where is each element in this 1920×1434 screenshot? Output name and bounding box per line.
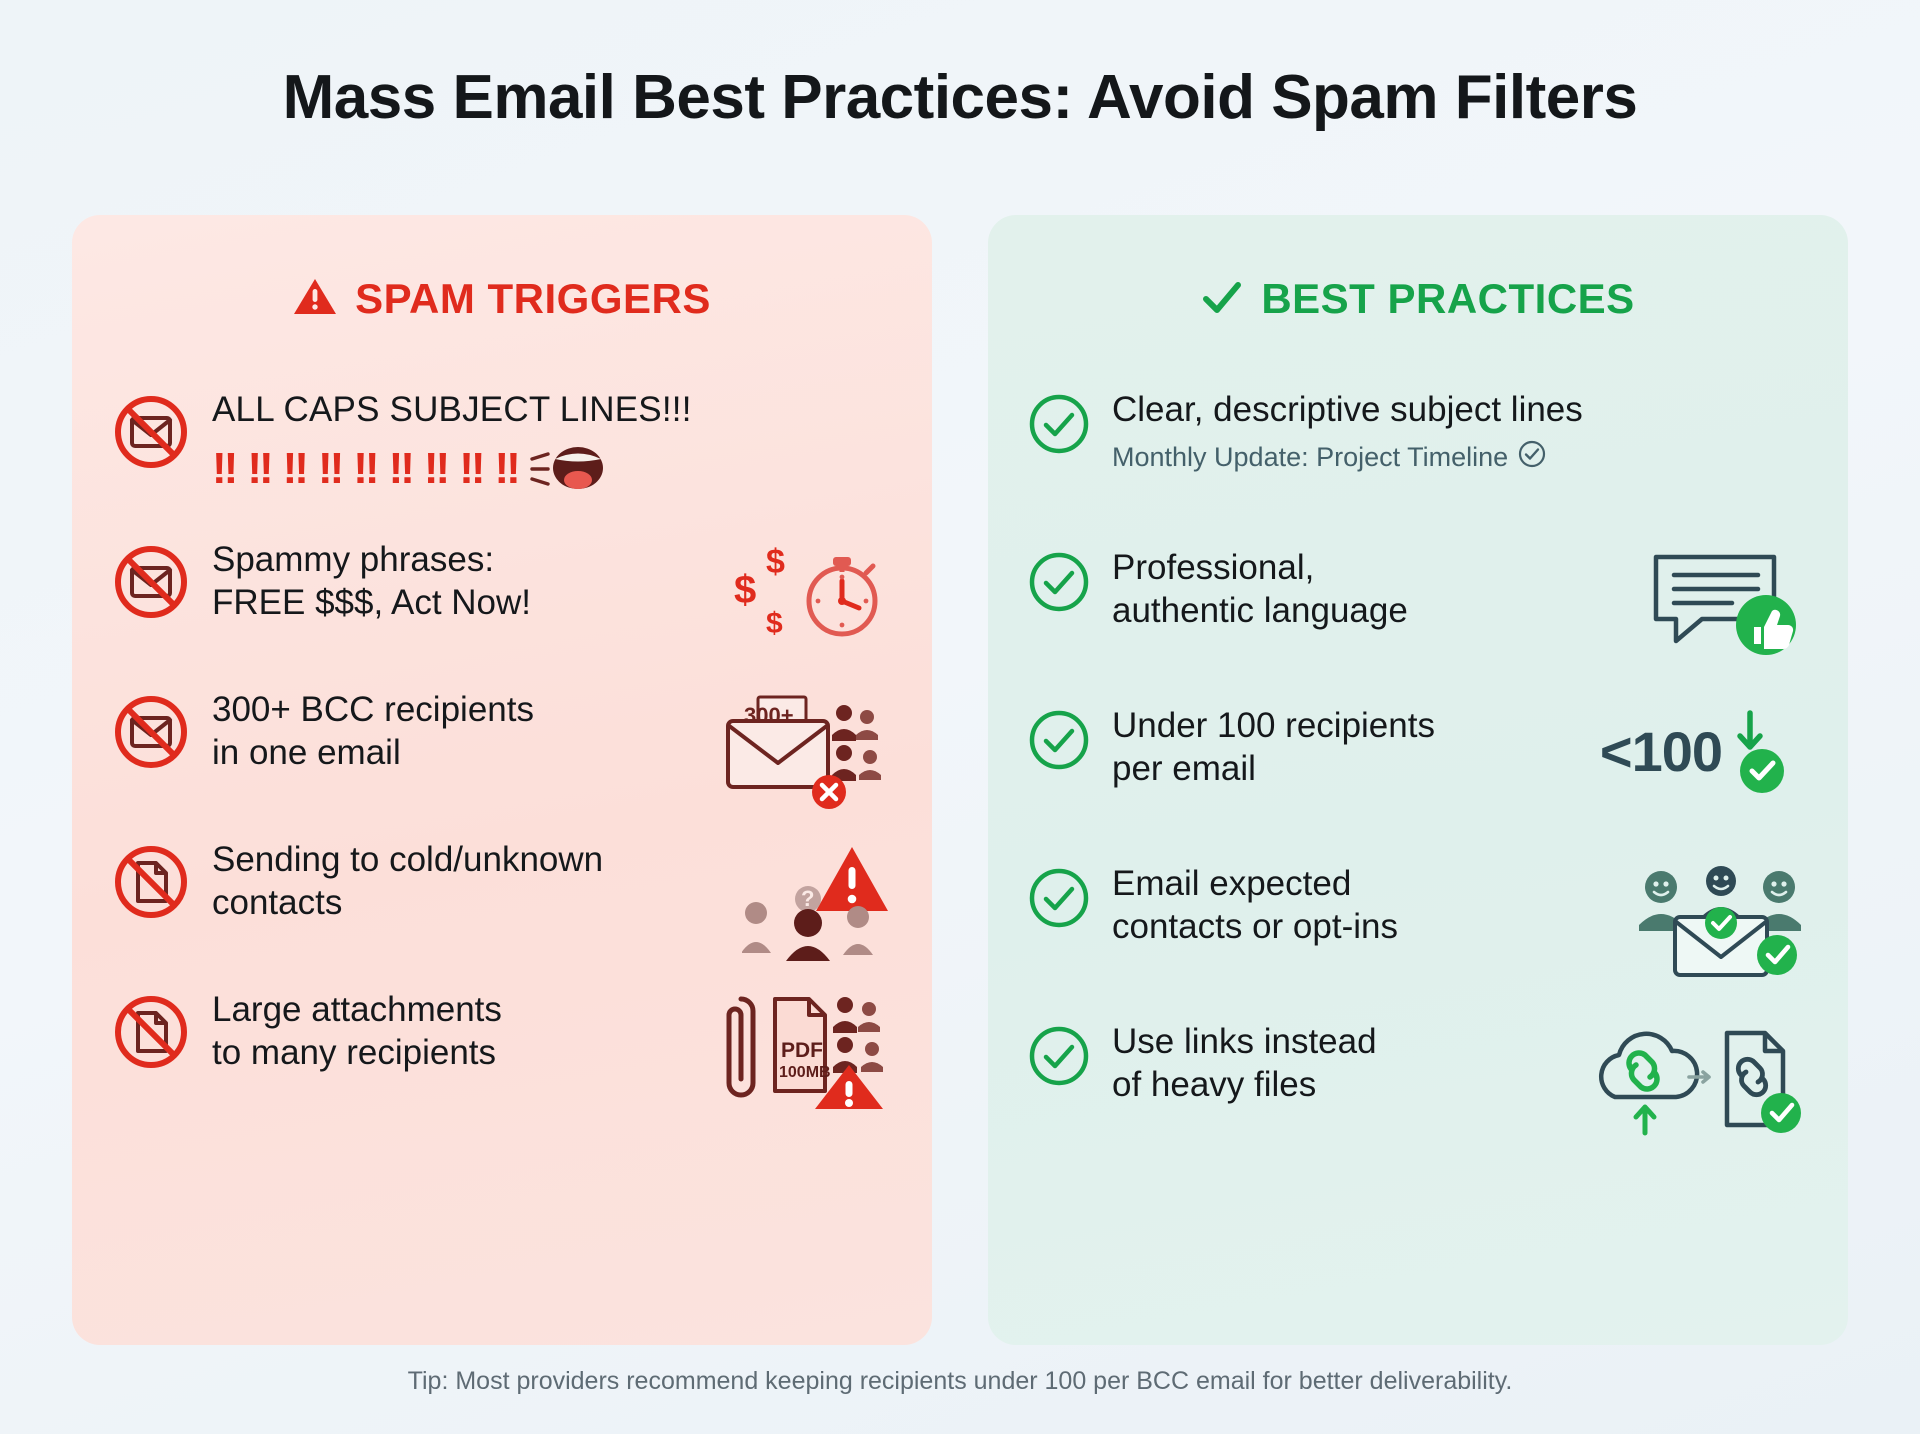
- list-item-line2: in one email: [212, 732, 690, 775]
- list-item-body: Use links instead of heavy files: [1112, 1021, 1561, 1106]
- exclamation-group: !!: [212, 447, 235, 491]
- list-item-body: Spammy phrases: FREE $$$, Act Now!: [212, 539, 700, 624]
- svg-text:?: ?: [801, 886, 814, 911]
- spam-triggers-title: SPAM TRIGGERS: [355, 275, 711, 323]
- list-item-body: 300+ BCC recipients in one email: [212, 689, 690, 774]
- best-practices-header: BEST PRACTICES: [1028, 275, 1808, 323]
- under-100-down-arrow-icon: <100: [1600, 707, 1808, 797]
- list-item-line1: Large attachments: [212, 989, 685, 1032]
- list-item: Email expected contacts or opt-ins: [1028, 863, 1808, 1021]
- unknown-people-warning-icon: ?: [742, 841, 892, 966]
- list-item-line1: Under 100 recipients: [1112, 705, 1568, 748]
- exclamation-group: !!: [424, 447, 447, 491]
- check-circle-icon: [1028, 393, 1090, 460]
- list-item: Sending to cold/unknown contacts: [112, 839, 892, 989]
- list-item-line1: Spammy phrases:: [212, 539, 700, 582]
- list-item-body: Clear, descriptive subject lines Monthly…: [1112, 389, 1808, 475]
- file-size-label: 100MB: [779, 1064, 831, 1081]
- exclamation-group: !!: [459, 447, 482, 491]
- svg-text:$: $: [734, 568, 756, 612]
- list-item-body: Professional, authentic language: [1112, 547, 1616, 632]
- exclamation-group: !!: [495, 447, 518, 491]
- list-item-line1: 300+ BCC recipients: [212, 689, 690, 732]
- best-practices-list: Clear, descriptive subject lines Monthly…: [1028, 389, 1808, 1179]
- svg-text:$: $: [766, 543, 785, 581]
- under-100-label: <100: [1600, 724, 1722, 780]
- check-circle-icon: [1028, 867, 1090, 934]
- list-item-line1: Professional,: [1112, 547, 1616, 590]
- list-item-line1: Email expected: [1112, 863, 1601, 906]
- check-circle-icon: [1028, 709, 1090, 776]
- check-circle-icon: [1028, 551, 1090, 618]
- spam-triggers-header: SPAM TRIGGERS: [112, 275, 892, 323]
- check-icon: [1201, 277, 1243, 322]
- svg-text:$: $: [766, 607, 783, 640]
- list-item: Use links instead of heavy files: [1028, 1021, 1808, 1179]
- list-item-line2: contacts or opt-ins: [1112, 906, 1601, 949]
- no-email-icon: [112, 543, 190, 626]
- paperclip-pdf-warning-icon: PDF 100MB: [717, 991, 892, 1116]
- check-circle-small-icon: [1518, 440, 1546, 475]
- list-item: Large attachments to many recipients PDF…: [112, 989, 892, 1139]
- no-email-icon: [112, 393, 190, 476]
- money-stopwatch-icon: $ $ $: [732, 541, 892, 656]
- list-item: Spammy phrases: FREE $$$, Act Now! $ $ $: [112, 539, 892, 689]
- people-envelope-check-icon: [1633, 865, 1808, 985]
- exclamation-row: !! !! !! !! !! !! !! !! !!: [212, 438, 892, 501]
- exclamation-group: !!: [389, 447, 412, 491]
- chat-thumbsup-icon: [1648, 549, 1808, 669]
- envelope-count-label: 300+: [744, 703, 794, 728]
- list-item-line2: to many recipients: [212, 1032, 685, 1075]
- infographic-page: Mass Email Best Practices: Avoid Spam Fi…: [0, 0, 1920, 1434]
- list-item-line2: of heavy files: [1112, 1064, 1561, 1107]
- cloud-link-file-check-icon: [1593, 1023, 1808, 1143]
- list-item: Clear, descriptive subject lines Monthly…: [1028, 389, 1808, 547]
- no-email-icon: [112, 693, 190, 776]
- subject-line-example: Monthly Update: Project Timeline: [1112, 440, 1808, 475]
- pdf-label: PDF: [781, 1039, 823, 1062]
- best-practices-panel: BEST PRACTICES Clear, descriptive subjec…: [988, 215, 1848, 1345]
- list-item: ALL CAPS SUBJECT LINES!!! !! !! !! !! !!…: [112, 389, 892, 539]
- no-document-icon: [112, 993, 190, 1076]
- list-item-line2: authentic language: [1112, 590, 1616, 633]
- list-item-line1: Sending to cold/unknown: [212, 839, 710, 882]
- exclamation-group: !!: [318, 447, 341, 491]
- spam-triggers-panel: SPAM TRIGGERS ALL CAPS SUBJECT LINE: [72, 215, 932, 1345]
- list-item-body: Email expected contacts or opt-ins: [1112, 863, 1601, 948]
- list-item-line1: ALL CAPS SUBJECT LINES!!!: [212, 389, 892, 432]
- check-circle-icon: [1028, 1025, 1090, 1092]
- envelope-300-people-x-icon: 300+: [722, 691, 892, 816]
- list-item: 300+ BCC recipients in one email 300+: [112, 689, 892, 839]
- list-item-body: Large attachments to many recipients: [212, 989, 685, 1074]
- exclamation-group: !!: [353, 447, 376, 491]
- list-item-line1: Clear, descriptive subject lines: [1112, 389, 1808, 432]
- list-item-body: Sending to cold/unknown contacts: [212, 839, 710, 924]
- no-document-icon: [112, 843, 190, 926]
- list-item: Under 100 recipients per email <100: [1028, 705, 1808, 863]
- page-title: Mass Email Best Practices: Avoid Spam Fi…: [0, 0, 1920, 133]
- list-item-line2: contacts: [212, 882, 710, 925]
- best-practices-title: BEST PRACTICES: [1261, 275, 1634, 323]
- panels-container: SPAM TRIGGERS ALL CAPS SUBJECT LINE: [72, 215, 1848, 1345]
- list-item-line2: per email: [1112, 748, 1568, 791]
- list-item: Professional, authentic language: [1028, 547, 1808, 705]
- warning-triangle-icon: [293, 277, 337, 322]
- list-item-body: ALL CAPS SUBJECT LINES!!! !! !! !! !! !!…: [212, 389, 892, 501]
- list-item-line1: Use links instead: [1112, 1021, 1561, 1064]
- exclamation-group: !!: [247, 447, 270, 491]
- list-item-line2: FREE $$$, Act Now!: [212, 582, 700, 625]
- spam-triggers-list: ALL CAPS SUBJECT LINES!!! !! !! !! !! !!…: [112, 389, 892, 1139]
- subject-line-example-text: Monthly Update: Project Timeline: [1112, 442, 1508, 473]
- shouting-mouth-icon: [530, 438, 608, 501]
- exclamation-group: !!: [283, 447, 306, 491]
- footer-tip: Tip: Most providers recommend keeping re…: [0, 1367, 1920, 1396]
- list-item-body: Under 100 recipients per email: [1112, 705, 1568, 790]
